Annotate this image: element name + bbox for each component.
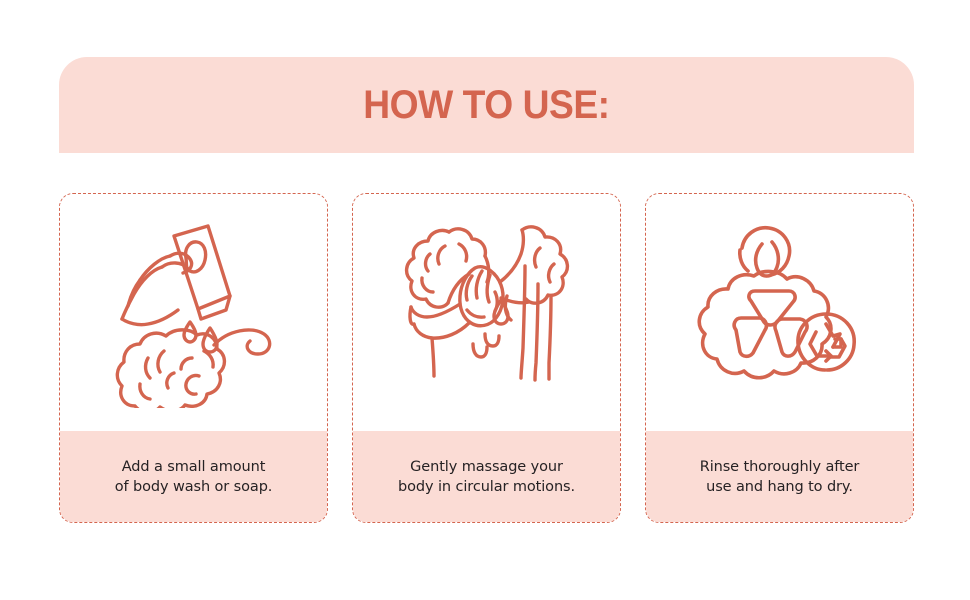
step-2-illustration [353, 194, 620, 431]
loofah-with-hanging-loop-and-recycle-icon [690, 218, 870, 408]
step-card-1: Add a small amount of body wash or soap. [59, 193, 328, 523]
step-2-caption: Gently massage your body in circular mot… [353, 431, 620, 522]
step-1-illustration [60, 194, 327, 431]
person-washing-body-with-sponge-icon [397, 218, 577, 408]
step-2-caption-text: Gently massage your body in circular mot… [398, 457, 575, 497]
how-to-use-infographic: HOW TO USE: [0, 0, 970, 600]
hand-squeezing-soap-bottle-onto-loofah-icon [104, 218, 284, 408]
page-title: HOW TO USE: [363, 85, 609, 125]
step-3-caption: Rinse thoroughly after use and hang to d… [646, 431, 913, 522]
steps-row: Add a small amount of body wash or soap. [59, 193, 914, 523]
step-card-2: Gently massage your body in circular mot… [352, 193, 621, 523]
header-banner: HOW TO USE: [59, 57, 914, 153]
step-3-caption-text: Rinse thoroughly after use and hang to d… [700, 457, 860, 497]
step-1-caption-text: Add a small amount of body wash or soap. [115, 457, 273, 497]
step-card-3: Rinse thoroughly after use and hang to d… [645, 193, 914, 523]
step-3-illustration [646, 194, 913, 431]
step-1-caption: Add a small amount of body wash or soap. [60, 431, 327, 522]
